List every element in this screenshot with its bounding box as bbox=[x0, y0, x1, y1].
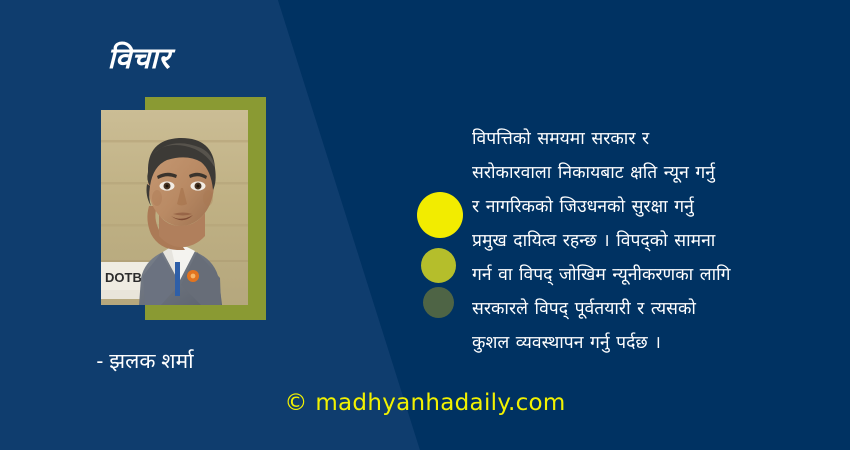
avatar: DOTB bbox=[101, 110, 248, 305]
portrait-illustration: DOTB bbox=[101, 110, 248, 305]
portrait-block: DOTB bbox=[101, 97, 271, 325]
decorative-dot-yellow bbox=[417, 192, 463, 238]
page-title: विचार bbox=[0, 44, 278, 76]
opinion-quote-poster: विचार bbox=[0, 0, 850, 450]
svg-text:DOTB: DOTB bbox=[105, 270, 142, 285]
site-credit: © madhyanhadaily.com bbox=[0, 390, 850, 416]
author-byline: - झलक शर्मा bbox=[0, 347, 290, 375]
quote-text: विपत्तिको समयमा सरकार र सरोकारवाला निकाय… bbox=[472, 122, 828, 360]
decorative-dot-olive bbox=[421, 248, 456, 283]
decorative-dot-green bbox=[423, 287, 454, 318]
